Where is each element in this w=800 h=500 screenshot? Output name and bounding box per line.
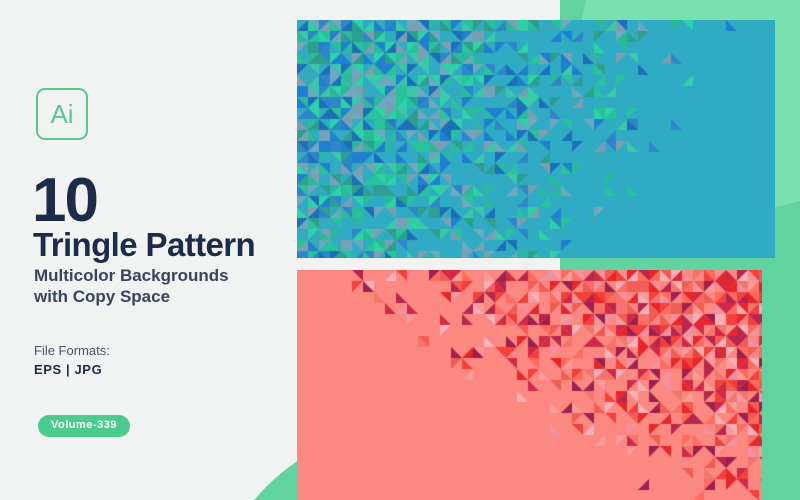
pattern-count: 10 — [32, 170, 97, 232]
page-title: Tringle Pattern — [33, 228, 255, 261]
branding-block: Ai — [36, 88, 286, 140]
file-formats-label: File Formats: — [34, 343, 110, 358]
teal-pattern-canvas — [297, 20, 775, 258]
subtitle-line-2: with Copy Space — [34, 286, 284, 307]
ai-icon-label: Ai — [50, 101, 73, 127]
subtitle-line-1: Multicolor Backgrounds — [34, 265, 284, 286]
page-subtitle: Multicolor Backgrounds with Copy Space — [34, 265, 284, 308]
teal-triangle-preview — [297, 20, 775, 258]
file-formats-value: EPS | JPG — [34, 362, 102, 377]
poster-canvas: Ai 10 Tringle Pattern Multicolor Backgro… — [0, 0, 800, 500]
coral-pattern-canvas — [297, 270, 762, 500]
illustrator-ai-icon: Ai — [36, 88, 88, 140]
volume-badge: Volume-339 — [38, 415, 130, 437]
coral-triangle-preview — [297, 270, 762, 500]
